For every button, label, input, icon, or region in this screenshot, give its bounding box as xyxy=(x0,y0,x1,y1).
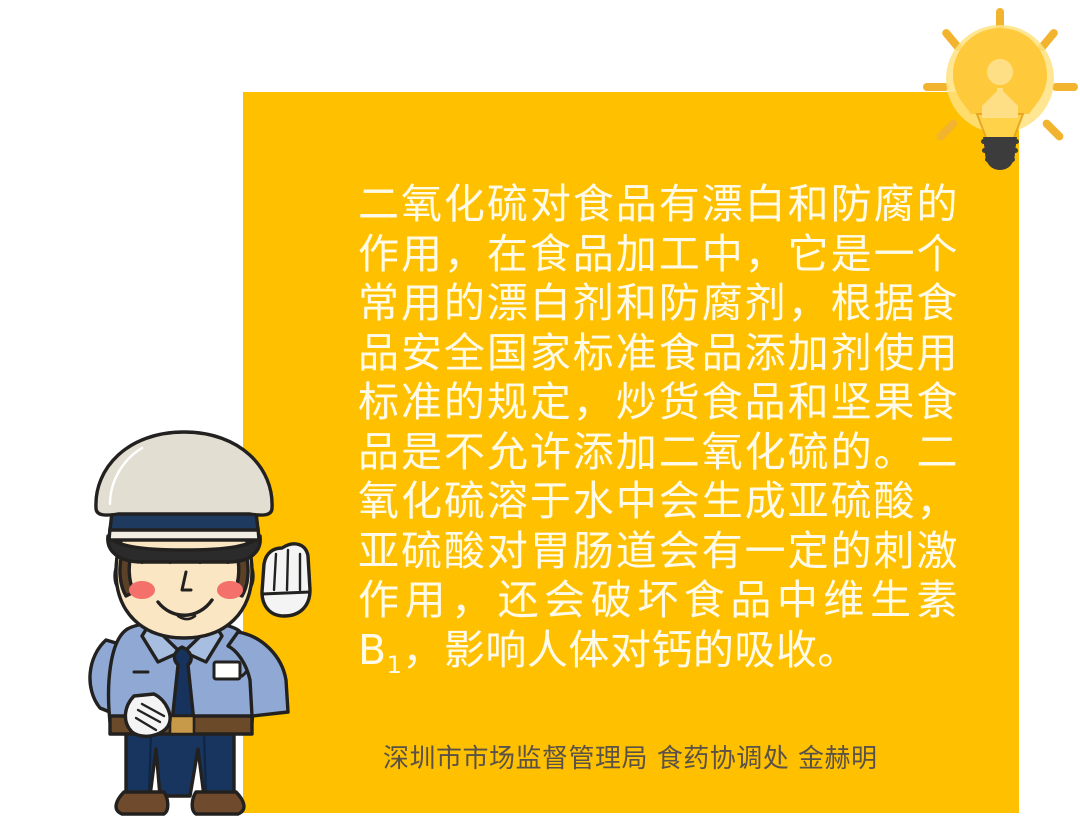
officer-chest-badge xyxy=(214,662,240,679)
officer-blush-left xyxy=(129,581,155,599)
officer-shoe-right xyxy=(192,792,244,814)
lightbulb-screw-base xyxy=(981,137,1019,170)
attribution-line: 深圳市市场监督管理局 食药协调处 金赫明 xyxy=(383,738,878,775)
body-paragraph-part-1: 二氧化硫对食品有漂白和防腐的作用，在食品加工中，它是一个常用的漂白剂和防腐剂，根… xyxy=(358,180,958,674)
officer-shoe-left xyxy=(116,792,168,814)
officer-right-glove xyxy=(262,544,310,616)
poster-canvas: 二氧化硫对食品有漂白和防腐的作用，在食品加工中，它是一个常用的漂白剂和防腐剂，根… xyxy=(0,0,1080,829)
lightbulb-icon xyxy=(921,0,1080,175)
officer-blush-right xyxy=(217,581,243,599)
officer-belt-buckle xyxy=(170,716,194,734)
officer-tie xyxy=(172,647,194,722)
officer-cap-crown xyxy=(96,432,272,515)
body-paragraph-part-2: ，影响人体对钙的吸收。 xyxy=(402,626,859,674)
officer-right-glove-finger-2 xyxy=(287,550,288,590)
inspector-officer-illustration xyxy=(38,404,328,829)
content-card: 二氧化硫对食品有漂白和防腐的作用，在食品加工中，它是一个常用的漂白剂和防腐剂，根… xyxy=(243,92,1019,813)
officer-right-glove-cuff xyxy=(262,592,310,594)
body-paragraph: 二氧化硫对食品有漂白和防腐的作用，在食品加工中，它是一个常用的漂白剂和防腐剂，根… xyxy=(358,180,958,675)
vitamin-b-subscript: 1 xyxy=(387,651,403,679)
